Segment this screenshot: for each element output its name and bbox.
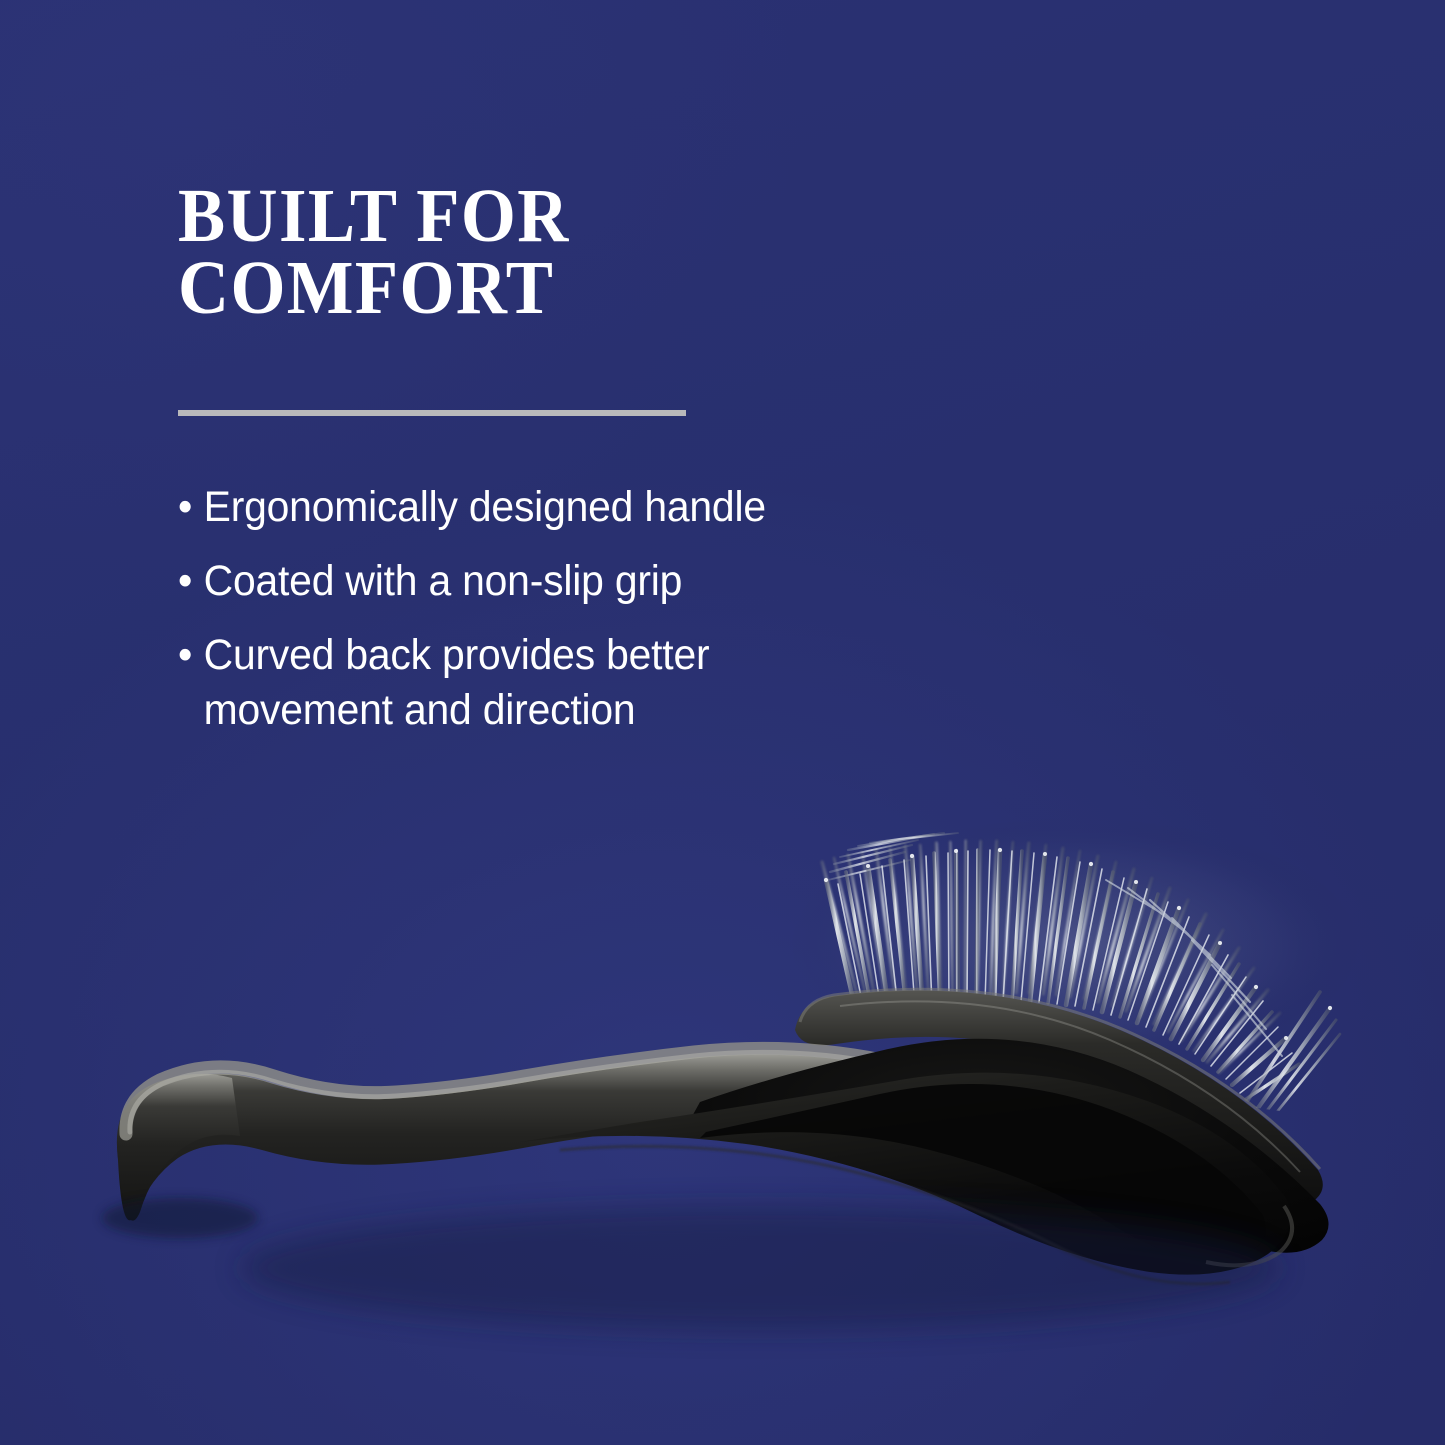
bullet-marker: • (178, 480, 197, 535)
feature-list: •Ergonomically designed handle •Coated w… (178, 480, 918, 757)
list-item-label: Coated with a non-slip grip (204, 557, 683, 605)
bullet-marker: • (178, 554, 197, 609)
divider-rule (178, 410, 686, 416)
bullet-marker: • (178, 628, 197, 683)
list-item: •Coated with a non-slip grip (178, 554, 881, 609)
list-item: •Curved back provides better movement an… (178, 628, 881, 738)
list-item-label: Curved back provides better movement and… (204, 631, 710, 734)
product-feature-banner: BUILT FOR COMFORT •Ergonomically designe… (0, 0, 1445, 1445)
page-title: BUILT FOR COMFORT (178, 180, 885, 324)
copy-block: BUILT FOR COMFORT •Ergonomically designe… (178, 180, 938, 324)
list-item-label: Ergonomically designed handle (204, 483, 766, 531)
list-item: •Ergonomically designed handle (178, 480, 881, 535)
